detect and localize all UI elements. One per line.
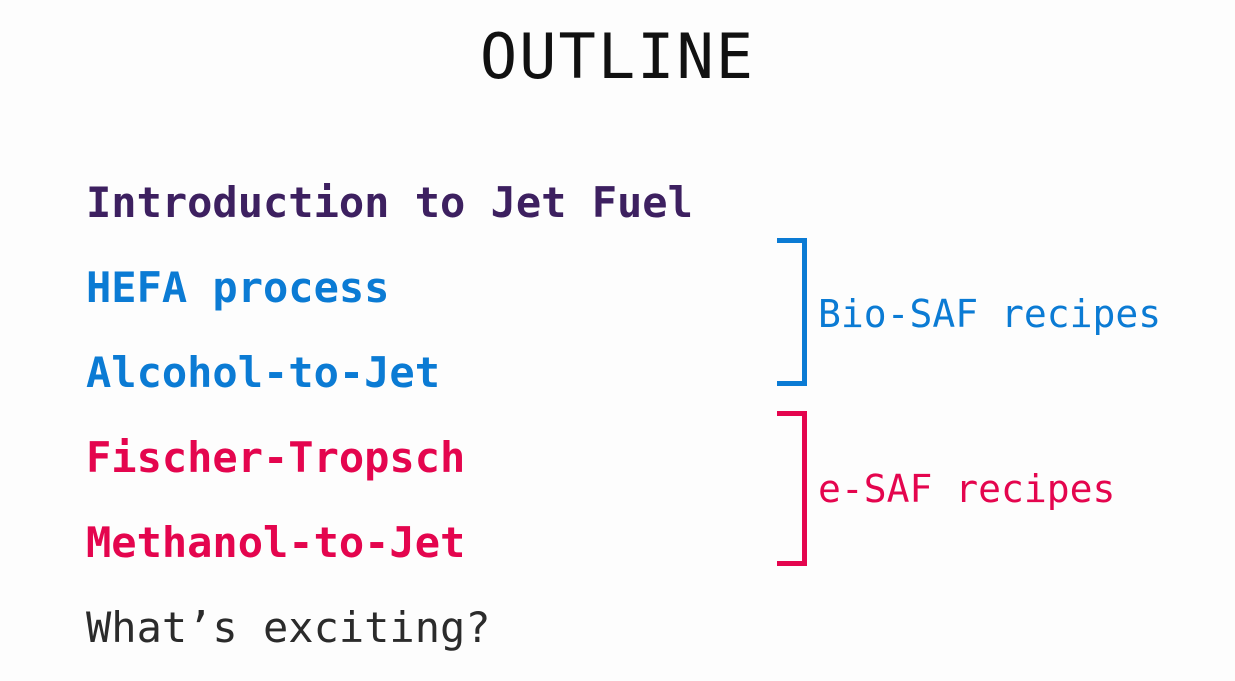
outline-item-label: Introduction to Jet Fuel <box>86 182 693 224</box>
outline-item-label: HEFA process <box>86 267 389 309</box>
outline-item-label: Alcohol-to-Jet <box>86 352 440 394</box>
outline-item-methanol-to-jet[interactable]: Methanol-to-Jet <box>86 500 806 585</box>
outline-item-label: Methanol-to-Jet <box>86 522 465 564</box>
outline-item-introduction[interactable]: Introduction to Jet Fuel <box>86 160 806 245</box>
outline-item-hefa-process[interactable]: HEFA process <box>86 245 806 330</box>
outline-item-whats-exciting[interactable]: What’s exciting? <box>86 585 806 670</box>
outline-item-label: Fischer-Tropsch <box>86 437 465 479</box>
outline-item-alcohol-to-jet[interactable]: Alcohol-to-Jet <box>86 330 806 415</box>
slide-outline: OUTLINE Introduction to Jet Fuel HEFA pr… <box>0 0 1235 681</box>
outline-list: Introduction to Jet Fuel HEFA process Al… <box>86 160 806 670</box>
group-label-bio-saf: Bio-SAF recipes <box>818 295 1161 333</box>
right-bracket-icon-bio-saf <box>777 238 807 386</box>
outline-item-fischer-tropsch[interactable]: Fischer-Tropsch <box>86 415 806 500</box>
group-label-e-saf: e-SAF recipes <box>818 470 1115 508</box>
right-bracket-icon-e-saf <box>777 411 807 566</box>
page-title: OUTLINE <box>0 24 1235 89</box>
outline-item-label: What’s exciting? <box>86 607 491 649</box>
